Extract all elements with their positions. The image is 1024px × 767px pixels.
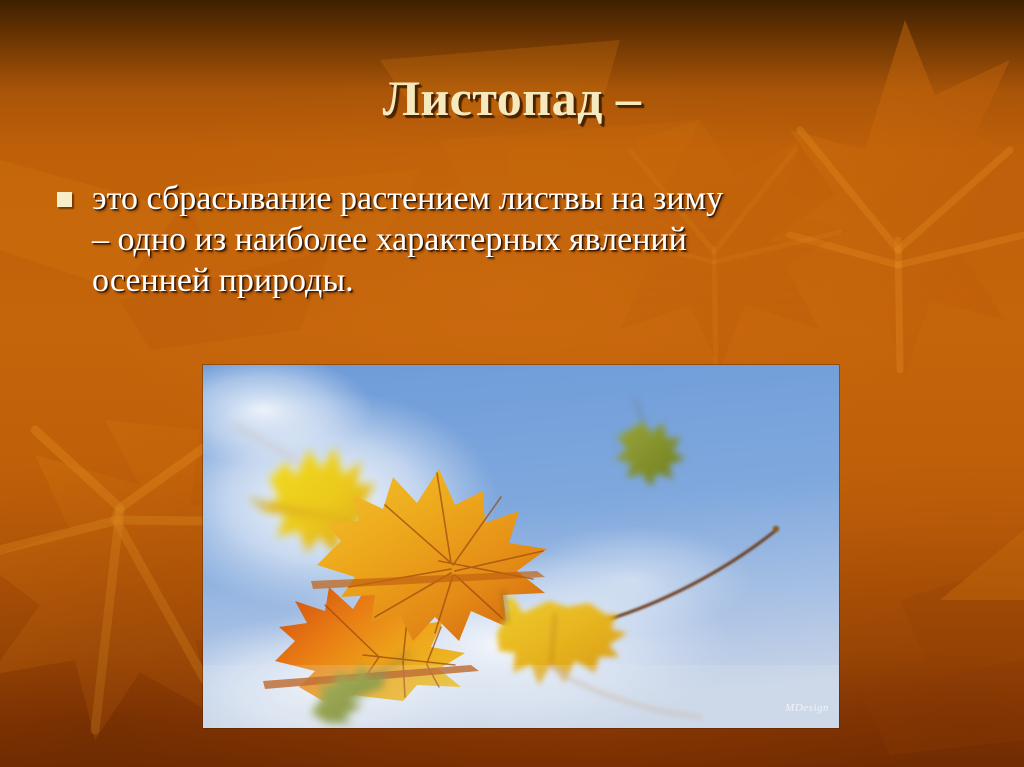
square-bullet-icon	[57, 192, 72, 207]
presentation-slide: Листопад – это сбрасывание растением лис…	[0, 0, 1024, 767]
bullet-line-2: – одно из наиболее характерных явлений	[92, 219, 977, 260]
bullet-line-3: осенней природы.	[92, 260, 977, 301]
bullet-line-1: это сбрасывание растением листвы на зиму	[92, 178, 977, 219]
autumn-leaves-photo: MDesign	[203, 365, 839, 728]
body-content: это сбрасывание растением листвы на зиму…	[57, 178, 977, 301]
bullet-text: это сбрасывание растением листвы на зиму…	[92, 178, 977, 301]
page-title: Листопад –	[0, 72, 1024, 125]
list-item: это сбрасывание растением листвы на зиму…	[57, 178, 977, 301]
